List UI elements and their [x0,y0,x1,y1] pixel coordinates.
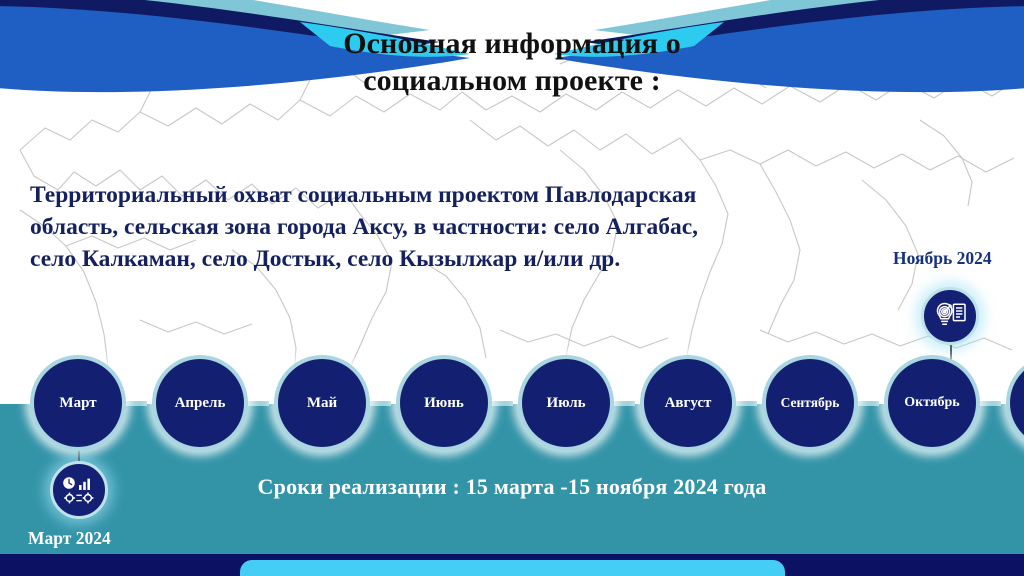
month-label: Апрель [175,396,226,411]
timeline-month-may[interactable]: Май [274,355,370,451]
start-milestone-label: Март 2024 [28,528,111,549]
end-milestone-label: Ноябрь 2024 [893,248,992,269]
month-label: Июнь [424,396,464,411]
slide-title-line-2: социальном проекте : [256,63,768,100]
timeline-month-october[interactable]: Октябрь [884,355,980,451]
timeline-month-september[interactable]: Сентябрь [762,355,858,451]
month-label: Март [59,396,96,411]
body-line-3: село Калкаман, село Достык, село Кызылжа… [30,244,850,276]
slide-title: Основная информация о социальном проекте… [256,26,768,99]
timeline-month-april[interactable]: Апрель [152,355,248,451]
end-milestone-badge[interactable] [921,287,979,345]
body-line-1: Территориальный охват социальным проекто… [30,180,850,212]
body-line-2: область, сельская зона города Аксу, в ча… [30,212,850,244]
month-label: Май [307,396,337,411]
timeline-month-march[interactable]: Март [30,355,126,451]
bottom-cyan-tab [240,560,785,576]
slide-title-line-1: Основная информация о [256,26,768,63]
month-label: Август [665,396,712,411]
lightbulb-target-document-icon [932,300,968,332]
month-label: Октябрь [904,396,959,410]
timeline-month-june[interactable]: Июнь [396,355,492,451]
timeline-month-july[interactable]: Июль [518,355,614,451]
month-label: Июль [546,396,585,411]
timeline-month-august[interactable]: Август [640,355,736,451]
slide-body-text: Территориальный охват социальным проекто… [30,180,850,276]
month-label: Сентябрь [781,396,840,410]
timeline-caption: Сроки реализации : 15 марта -15 ноября 2… [0,474,1024,500]
slide-canvas: Основная информация о социальном проекте… [0,0,1024,576]
